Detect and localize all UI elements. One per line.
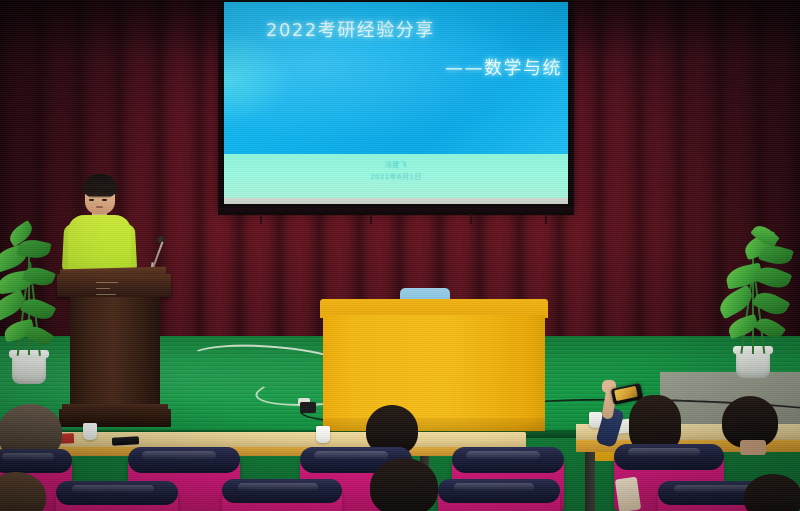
cable-connector-black	[300, 402, 316, 413]
chair-highlight	[674, 485, 752, 493]
slide-upper-panel: 2022考研经验分享 ——数学与统	[224, 2, 568, 154]
slide-lower-panel: 冯建飞 2021年6月1日	[224, 154, 568, 198]
podium-detail-line	[96, 294, 116, 295]
slide-title: 2022考研经验分享	[266, 16, 435, 42]
chair-highlight	[466, 451, 540, 460]
projection-screen: 2022考研经验分享 ——数学与统 冯建飞 2021年6月1日	[218, 0, 574, 210]
audience-table-left-edge	[0, 447, 526, 456]
projector-glare	[224, 30, 294, 126]
paper-cup	[83, 423, 97, 440]
chair-highlight	[454, 483, 534, 491]
presenter-mouth	[96, 206, 103, 208]
chair-highlight	[314, 451, 388, 460]
paper-cup	[316, 426, 330, 443]
screen-leg-4	[545, 214, 547, 224]
chair-highlight	[72, 485, 154, 493]
chair-highlight	[142, 451, 216, 460]
phone-on-table	[112, 436, 139, 445]
podium-base	[59, 409, 171, 427]
phone-held-low	[615, 477, 641, 511]
screen-leg-2	[370, 214, 372, 224]
chair-highlight	[628, 448, 700, 457]
chair-highlight	[238, 483, 318, 491]
screen-leg-1	[260, 214, 262, 224]
screen-leg-3	[470, 214, 472, 224]
attendee-head-far-right	[744, 474, 800, 511]
projection-screen-surface: 2022考研经验分享 ——数学与统 冯建飞 2021年6月1日	[224, 2, 568, 204]
presenter-eye-left	[89, 199, 94, 201]
screen-blank-area	[224, 198, 568, 204]
presenter-hair-fringe	[85, 190, 115, 198]
audience-table-right-leg	[585, 452, 595, 511]
podium-detail-line	[96, 282, 118, 283]
screen-bottom-bar	[218, 207, 574, 215]
attendee-neck-right	[740, 440, 766, 455]
attendee-head-center-front	[370, 458, 438, 511]
slide-presenter-name: 冯建飞	[224, 160, 568, 170]
auditorium-photo: 2022考研经验分享 ——数学与统 冯建飞 2021年6月1日	[0, 0, 800, 511]
slide-subtitle: ——数学与统	[445, 54, 562, 80]
presenter-eye-right	[102, 199, 107, 201]
slide-date: 2021年6月1日	[224, 172, 568, 182]
chair-highlight	[2, 453, 54, 461]
podium-body	[70, 297, 160, 409]
stage-table-skirt	[323, 315, 545, 431]
podium-detail-line	[96, 288, 110, 289]
stage-table-shadow	[323, 418, 545, 432]
